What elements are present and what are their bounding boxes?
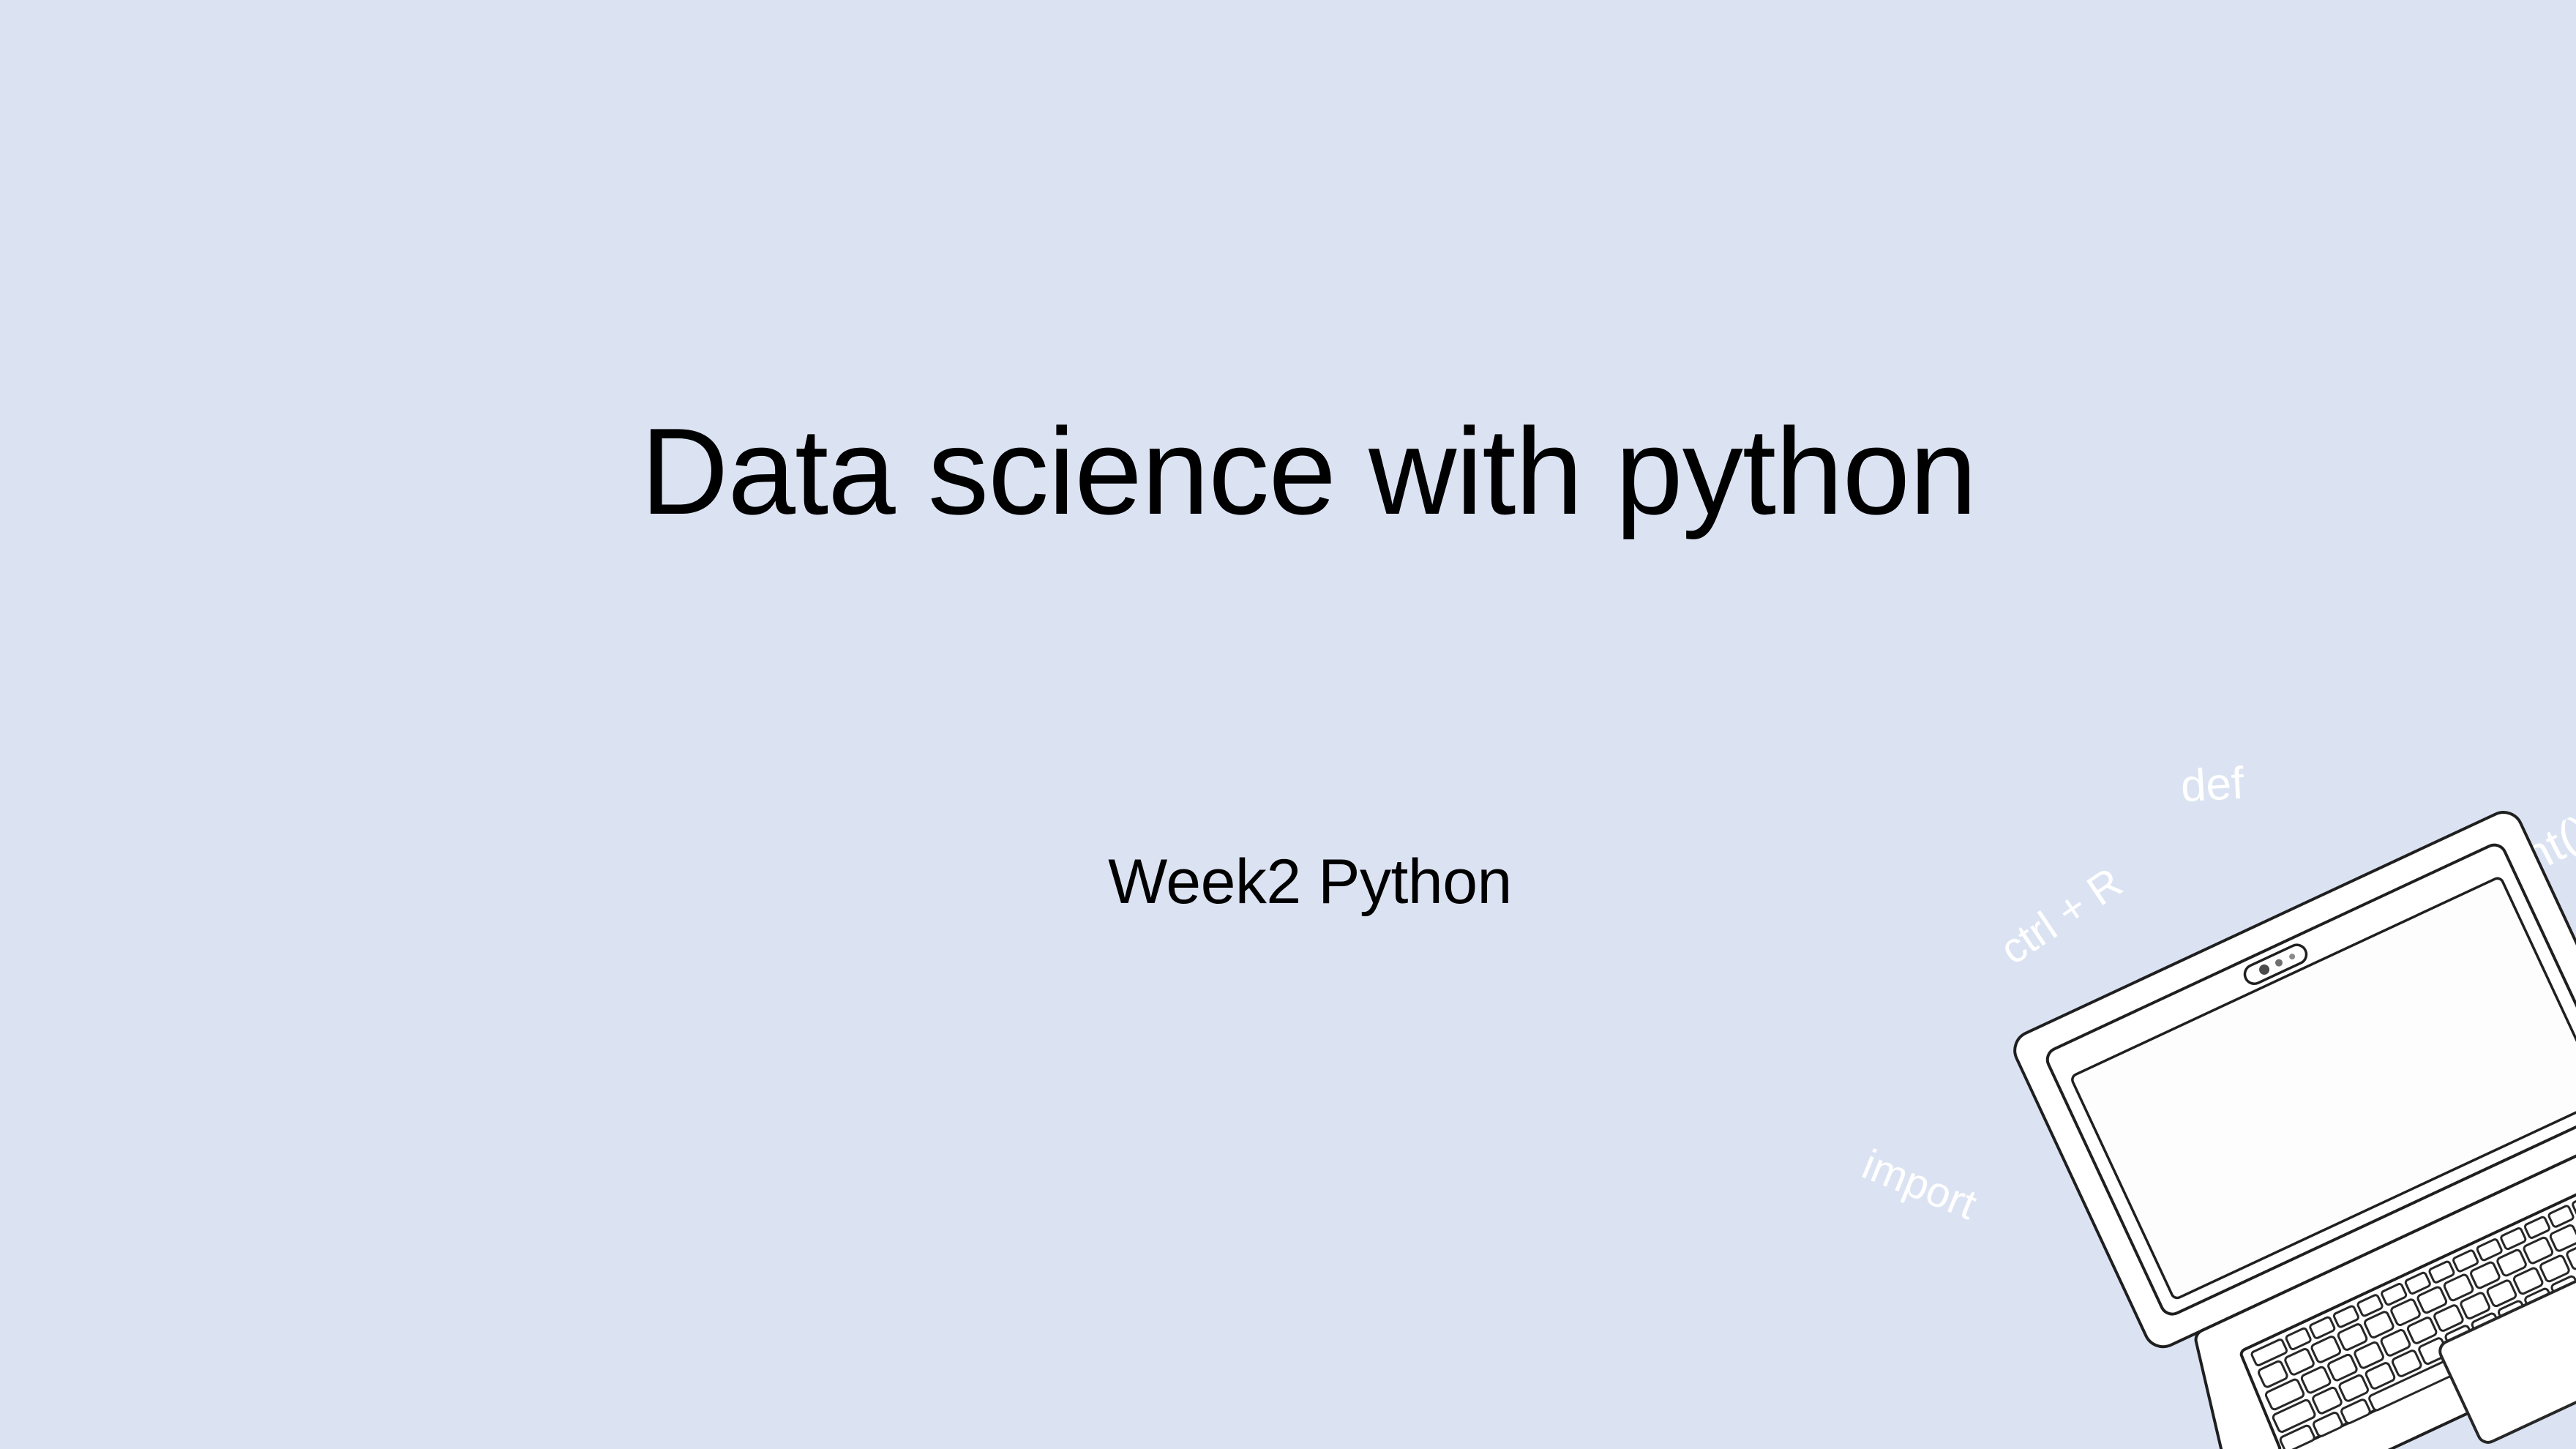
decorative-artwork: def print() ctrl + R import <box>1742 732 2576 1449</box>
page-title: Data science with python <box>34 410 2576 533</box>
laptop-body-group <box>2009 785 2576 1449</box>
title-container: Data science with python <box>0 410 2576 533</box>
code-keyword-def: def <box>2179 761 2244 809</box>
laptop-line-art <box>1961 878 2576 1449</box>
laptop-icon <box>1961 878 2576 1449</box>
presentation-slide: Data science with python Week2 Python de… <box>0 0 2576 1449</box>
